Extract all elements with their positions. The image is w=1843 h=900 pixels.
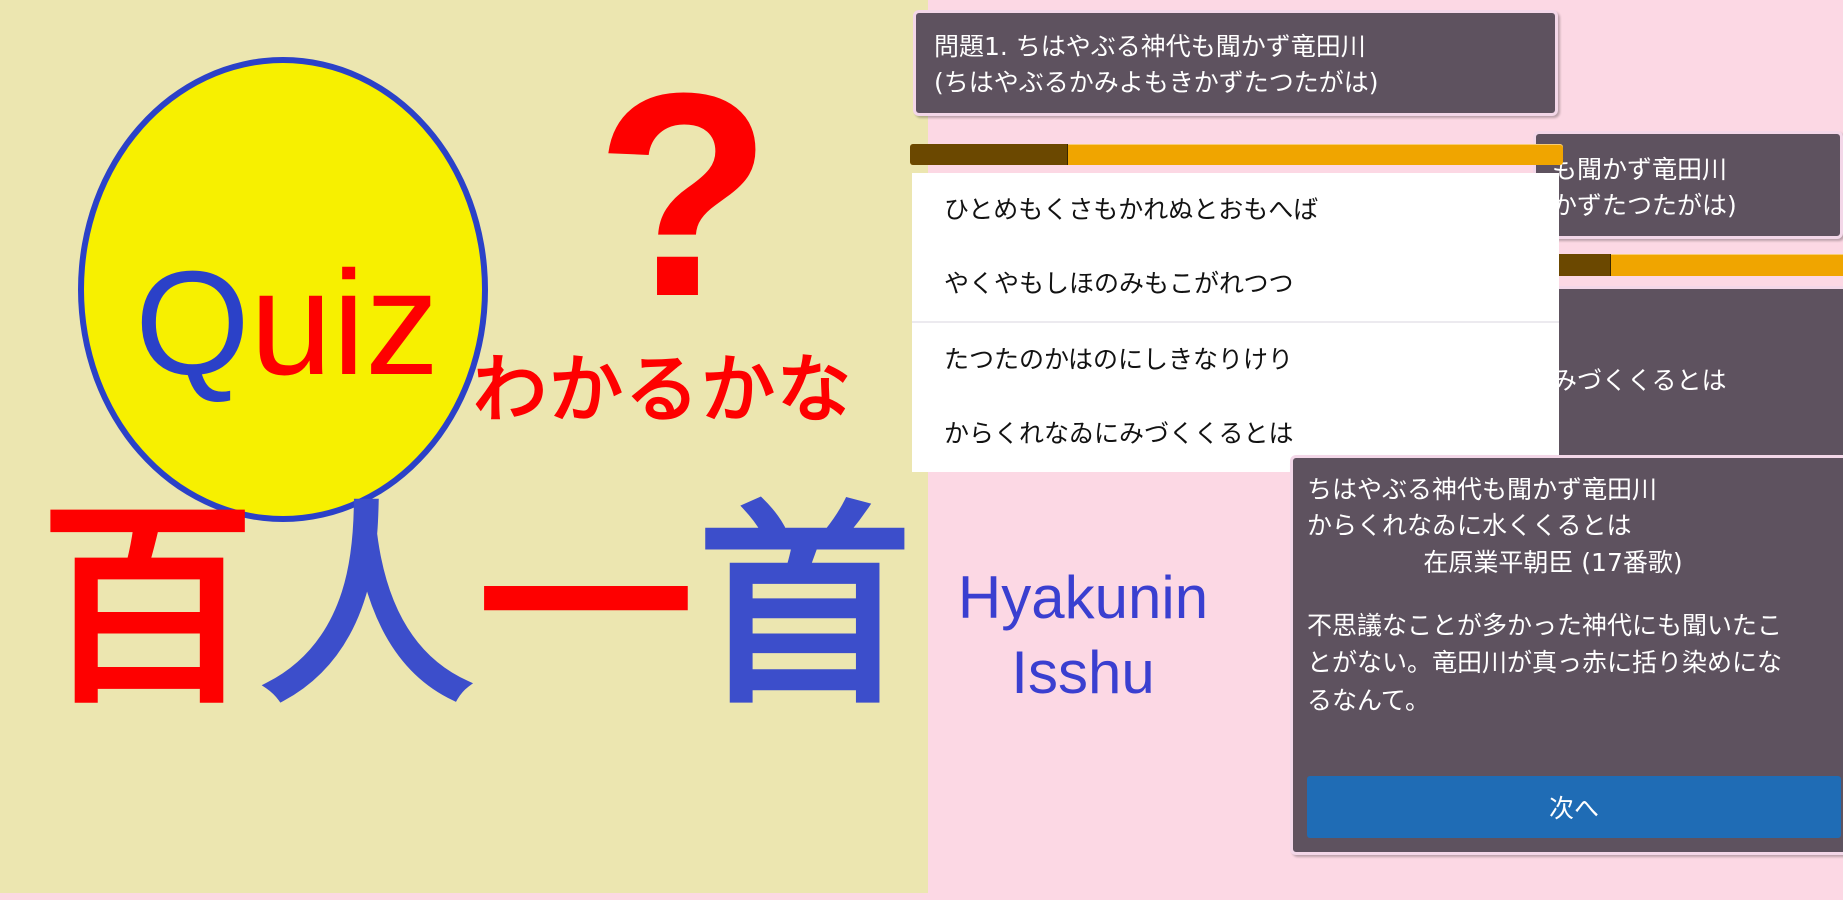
promo-tagline: わかるかな [448,330,878,437]
romaji-caption: Hyakunin Isshu [918,560,1248,710]
timer-progress-bar [910,144,1563,165]
question-mark-glyph: ? [595,50,772,340]
explanation-text: 不思議なことが多かった神代にも聞いたこ とがない。竜田川が真っ赤に括り染めにな … [1293,581,1843,720]
romaji-line-1: Hyakunin [918,560,1248,635]
romaji-line-2: Isshu [918,635,1248,710]
explanation-panel: ちはやぶる神代も聞かず竜田川 からくれなゐに水くくるとは 在原業平朝臣 (17番… [1290,455,1843,855]
next-button[interactable]: 次へ [1307,776,1841,838]
answer-text-secondary: みづくくるとは [1552,361,1727,397]
poem-block: ちはやぶる神代も聞かず竜田川 からくれなゐに水くくるとは 在原業平朝臣 (17番… [1293,458,1843,581]
screenshot-collage: Hyakunin Isshu も聞かず竜田川 かずたつたがは) みづくくるとは … [928,0,1843,900]
question-text-line-2-secondary: かずたつたがは) [1552,188,1840,224]
explanation-line-3: るなんて。 [1307,682,1841,720]
question-text-line-1-secondary: も聞かず竜田川 [1552,152,1840,188]
timer-progress-fill [910,144,1068,165]
answer-option-2[interactable]: やくやもしほのみもこがれつつ [912,247,1559,321]
answer-option-1[interactable]: ひとめもくさもかれぬとおもへば [912,173,1559,247]
quiz-letters-uiz: uiz [250,241,439,406]
poem-line-2: からくれなゐに水くくるとは [1307,508,1843,544]
quiz-wordmark: Quiz [92,250,482,398]
explanation-line-2: とがない。竜田川が真っ赤に括り染めにな [1307,644,1841,682]
answer-options-list[interactable]: ひとめもくさもかれぬとおもへば やくやもしほのみもこがれつつ たつたのかはのにし… [912,173,1559,472]
title-char-hyaku: 百 [40,482,259,733]
timer-progress-bar-secondary [1533,254,1843,276]
title-char-ichi: 一 [478,482,697,733]
question-text-line-2: (ちはやぶるかみよもきかずたつたがは) [934,65,1555,101]
answer-option-3[interactable]: たつたのかはのにしきなりけり [912,321,1559,397]
poem-line-1: ちはやぶる神代も聞かず竜田川 [1307,472,1843,508]
promo-panel: Quiz ? わかるかな 百人一首 [0,0,928,893]
title-char-shu: 首 [697,482,916,733]
quiz-letter-q: Q [135,241,250,406]
question-header-secondary: も聞かず竜田川 かずたつたがは) [1533,131,1843,239]
question-header: 問題1. ちはやぶる神代も聞かず竜田川 (ちはやぶるかみよもきかずたつたがは) [913,10,1558,116]
title-char-nin: 人 [259,482,478,733]
poem-author: 在原業平朝臣 (17番歌) [1307,543,1843,581]
explanation-line-1: 不思議なことが多かった神代にも聞いたこ [1307,607,1841,645]
question-text-line-1: 問題1. ちはやぶる神代も聞かず竜田川 [934,29,1555,65]
promo-title-hyakunin-isshu: 百人一首 [40,495,910,721]
